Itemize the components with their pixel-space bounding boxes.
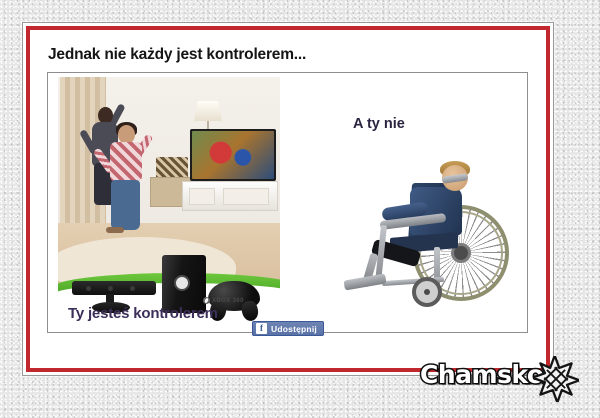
wheelchair-footplate [343, 273, 386, 290]
tv-screen [192, 131, 274, 179]
xbox-logo-text: XBOX 360 [212, 298, 244, 304]
facebook-share-label: Udostępnij [271, 324, 317, 334]
xbox-360-logo: XBOX 360 [203, 297, 244, 304]
xbox-ring-icon [203, 297, 210, 304]
legs [111, 180, 140, 230]
meme-card: Jednak nie każdy jest kontrolerem... [22, 22, 554, 376]
torso [110, 142, 142, 182]
floor-lamp-shade [194, 101, 222, 121]
right-caption: A ty nie [353, 116, 405, 132]
tv-stand-shelf-left [189, 188, 215, 205]
share-row: f Udostępnij [34, 321, 542, 336]
card-red-border: Jednak nie każdy jest kontrolerem... [26, 26, 550, 372]
console-power-ring [174, 275, 190, 291]
kinect-sensor [72, 281, 156, 295]
wheelchair-photo [338, 161, 513, 321]
chamsko-logo-text: Chamsko [420, 360, 544, 389]
tv-stand-shelf-right [223, 188, 269, 205]
facebook-f-icon: f [256, 323, 267, 334]
meme-image-panel[interactable]: XBOX 360 Ty jesteś kontrolerem A ty nie [47, 72, 528, 333]
facebook-share-button[interactable]: f Udostępnij [252, 321, 324, 336]
person-dancing-front [102, 125, 154, 237]
foot [106, 227, 124, 233]
card-inner: Jednak nie każdy jest kontrolerem... [34, 34, 542, 364]
table-decor-object [156, 157, 188, 179]
wheelchair-caster-wheel [412, 277, 442, 307]
page-title: Jednak nie każdy jest kontrolerem... [46, 44, 530, 72]
starburst-icon [533, 356, 579, 402]
tv-stand [182, 181, 278, 211]
television [190, 129, 276, 181]
left-caption: Ty jesteś kontrolerem [68, 305, 218, 322]
